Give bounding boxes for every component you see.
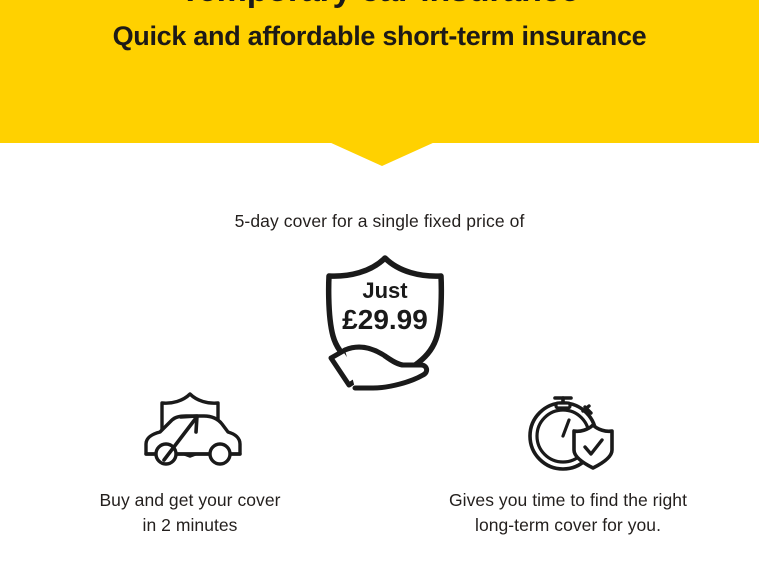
header-band: Temporary car insurance Quick and afford… <box>0 0 759 143</box>
stopwatch-with-shield-check-icon <box>519 384 617 474</box>
feature-tile-caption: Gives you time to find the right long-te… <box>418 488 718 538</box>
page-subheadline: Quick and affordable short-term insuranc… <box>0 19 759 53</box>
feature-tile-icon-wrap <box>418 382 718 474</box>
feature-tile-speed: Buy and get your cover in 2 minutes <box>40 382 340 538</box>
feature-caption-line1: Gives you time to find the right <box>449 490 687 510</box>
feature-tile-flexibility: Gives you time to find the right long-te… <box>418 382 718 538</box>
promo-page: Temporary car insurance Quick and afford… <box>0 0 759 569</box>
price-label-just: Just <box>311 278 459 304</box>
price-badge: Just £29.99 <box>311 252 459 394</box>
feature-caption-line2: in 2 minutes <box>40 513 340 538</box>
feature-caption-line1: Buy and get your cover <box>99 490 280 510</box>
feature-tile-caption: Buy and get your cover in 2 minutes <box>40 488 340 538</box>
page-headline: Temporary car insurance <box>0 0 759 10</box>
feature-caption-line2: long-term cover for you. <box>418 513 718 538</box>
headline-clipped-region: Temporary car insurance <box>0 0 759 10</box>
feature-tiles: Buy and get your cover in 2 minutes <box>0 382 759 542</box>
header-notch-triangle <box>329 142 435 166</box>
car-with-shield-arrow-icon <box>134 388 246 474</box>
feature-tile-icon-wrap <box>40 382 340 474</box>
price-label-amount: £29.99 <box>311 304 459 336</box>
price-lede-text: 5-day cover for a single fixed price of <box>0 211 759 232</box>
